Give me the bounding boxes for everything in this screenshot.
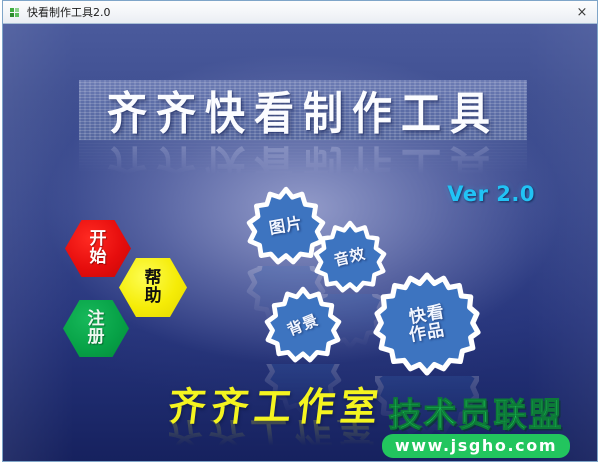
version-label: Ver 2.0 [447, 182, 535, 206]
studio-name-reflection: 齐齐工作室 [169, 420, 449, 446]
title-banner: 齐齐快看制作工具 齐齐快看制作工具 [79, 80, 527, 140]
client-area: 齐齐快看制作工具 齐齐快看制作工具 Ver 2.0 开 始 帮 助 注 册 [3, 24, 597, 462]
help-button[interactable]: 帮 助 [119, 258, 187, 317]
title-banner-reflection: 齐齐快看制作工具 [79, 140, 527, 174]
app-title-reflection-text: 齐齐快看制作工具 [107, 140, 499, 174]
app-icon [8, 5, 22, 19]
title-banner-plate: 齐齐快看制作工具 [79, 80, 527, 140]
close-icon[interactable]: × [567, 1, 597, 23]
gear-works[interactable]: 快看 作品 [375, 272, 479, 376]
gear-background[interactable]: 背景 [264, 286, 342, 364]
register-button[interactable]: 注 册 [63, 300, 129, 357]
app-title-text: 齐齐快看制作工具 [107, 80, 499, 140]
studio-name-reflection-text: 齐齐工作室 [169, 420, 449, 446]
register-button-label: 注 册 [88, 311, 105, 346]
window-controls: × [567, 1, 597, 23]
help-button-label: 帮 助 [145, 270, 162, 305]
window-title: 快看制作工具2.0 [27, 4, 111, 20]
start-button-label: 开 始 [90, 231, 107, 266]
application-window: 快看制作工具2.0 × 齐齐快看制作工具 齐齐快看制作工具 Ver 2.0 开 … [2, 0, 598, 462]
start-button[interactable]: 开 始 [65, 220, 131, 277]
title-bar: 快看制作工具2.0 × [3, 1, 597, 24]
studio-signature: 齐齐工作室 齐齐工作室 [169, 376, 449, 422]
